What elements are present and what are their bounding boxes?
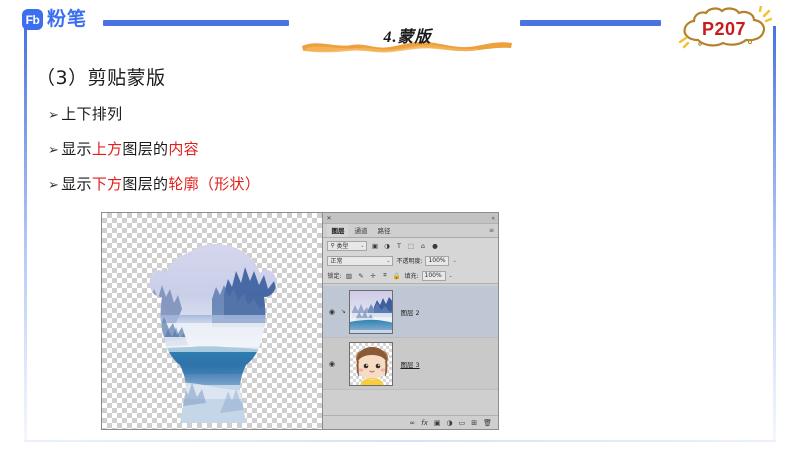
new-layer-icon[interactable]: ⊞ [471,419,477,427]
panel-menu-icon[interactable]: ≡ [489,227,494,234]
frame-line-right [773,26,776,442]
lock-image-pixels-icon[interactable]: ✎ [356,271,365,280]
frame-line-left [24,26,27,442]
bullet-list: ➢ 上下排列 ➢ 显示 上方 图层的 内容 ➢ 显示 下方 图层的 轮廓（形状） [48,103,260,194]
bullet-text-highlight: 内容 [168,138,199,159]
adjustment-icon[interactable]: ◑ [447,419,453,427]
list-item: ➢ 显示 下方 图层的 轮廓（形状） [48,173,260,194]
photoshop-canvas [102,213,323,429]
bullet-arrow-icon: ➢ [48,178,59,193]
lock-label: 锁定: [327,271,341,280]
list-item: ➢ 上下排列 [48,103,260,124]
mask-icon[interactable]: ▣ [434,419,441,427]
layers-panel-footer: ∞ fx ▣ ◑ ▭ ⊞ 🗑 [323,415,498,429]
section-heading: （3）剪贴蒙版 [36,63,166,90]
panel-collapse-icon[interactable]: « [491,215,495,222]
lock-position-icon[interactable]: ✛ [368,271,377,280]
layer-filter-row: ⚲ 类型 ⌄ ▣ ◑ T ⬚ ⌂ ● [323,238,498,253]
lock-all-icon[interactable]: 🔒 [392,271,401,280]
page-number-label: P207 [676,19,772,40]
layer-thumbnail[interactable] [349,290,393,334]
eye-icon[interactable]: ◉ [326,360,337,368]
fx-icon[interactable]: fx [421,419,428,427]
panel-close-icon[interactable]: ✕ [326,215,331,222]
frame-rule-right [520,20,661,26]
blend-mode-select[interactable]: 正常 ⌄ [327,256,393,266]
photoshop-screenshot: ✕ « 图层 通道 路径 ≡ ⚲ 类型 ⌄ ▣ ◑ T ⬚ ⌂ [101,212,499,430]
slide-root: Fb 粉笔 4.蒙版 P207 （3）剪贴蒙版 ➢ 上下排列 ➢ 显示 上方 [0,0,800,450]
filter-kind-label: 类型 [336,241,348,250]
link-icon[interactable]: ∞ [409,419,415,427]
bullet-text-highlight: 上方 [92,138,123,159]
fill-chevron-icon[interactable]: ⌄ [449,273,453,279]
tab-channels[interactable]: 通道 [350,224,371,237]
landscape-thumbnail [350,291,393,334]
group-icon[interactable]: ▭ [459,419,466,427]
frame-line-bottom [24,440,776,442]
panel-tab-bar: 图层 通道 路径 ≡ [323,224,498,238]
type-filter-icon[interactable]: T [394,241,403,250]
adjustment-filter-icon[interactable]: ◑ [382,241,391,250]
tab-paths[interactable]: 路径 [373,224,394,237]
bullet-text-highlight: 下方 [92,173,123,194]
layers-list: ◉ ↘ [323,283,498,415]
clipping-mask-result-image [128,227,298,423]
bullet-arrow-icon: ➢ [48,108,59,123]
lock-artboard-icon[interactable]: ⌗ [380,271,389,280]
filter-toggle-icon[interactable]: ● [430,241,439,250]
table-row[interactable]: ◉ [323,338,498,390]
fenbi-logo-mark: Fb [22,9,43,30]
lock-transparent-pixels-icon[interactable]: ▨ [344,271,353,280]
bullet-text-highlight: 轮廓（形状） [168,173,260,194]
shape-filter-icon[interactable]: ⬚ [406,241,415,250]
blend-mode-row: 正常 ⌄ 不透明度: 100% ⌄ [323,253,498,268]
frame-rule-left [103,20,289,26]
fenbi-logo-text: 粉笔 [47,10,87,29]
page-title: 4.蒙版 [300,23,515,47]
girl-avatar-thumbnail [350,343,393,386]
bullet-text-plain: 图层的 [122,138,168,159]
bullet-arrow-icon: ➢ [48,143,59,158]
filter-kind-select[interactable]: ⚲ 类型 ⌄ [327,241,367,251]
slide-title-group: 4.蒙版 [300,18,515,58]
smart-object-filter-icon[interactable]: ⌂ [418,241,427,250]
layer-name[interactable]: 图层 2 [400,307,419,317]
layers-panel: ✕ « 图层 通道 路径 ≡ ⚲ 类型 ⌄ ▣ ◑ T ⬚ ⌂ [323,213,498,429]
opacity-chevron-icon[interactable]: ⌄ [452,258,456,264]
fill-label: 填充: [404,271,418,280]
fenbi-logo: Fb 粉笔 [22,9,87,30]
clip-indicator-icon: ↘ [340,308,346,315]
layer-name[interactable]: 图层 3 [400,359,419,369]
panel-titlebar: ✕ « [323,213,498,224]
delete-icon[interactable]: 🗑 [483,419,492,427]
bullet-text-plain: 图层的 [122,173,168,194]
pixel-filter-icon[interactable]: ▣ [370,241,379,250]
tab-layers[interactable]: 图层 [327,224,348,237]
fill-value[interactable]: 100% [422,271,446,281]
opacity-label: 不透明度: [396,256,422,265]
bullet-text-plain: 显示 [61,138,92,159]
page-badge: P207 [676,6,772,52]
bullet-text-plain: 显示 [61,173,92,194]
list-item: ➢ 显示 上方 图层的 内容 [48,138,260,159]
lock-row: 锁定: ▨ ✎ ✛ ⌗ 🔒 填充: 100% ⌄ [323,268,498,283]
bullet-text-plain: 上下排列 [61,103,122,124]
layer-thumbnail[interactable] [349,342,393,386]
chevron-down-icon: ⌄ [386,258,390,264]
table-row[interactable]: ◉ ↘ [323,286,498,338]
chevron-down-icon: ⌄ [360,243,364,249]
blend-mode-value: 正常 [330,256,342,265]
eye-icon[interactable]: ◉ [326,308,337,316]
opacity-value[interactable]: 100% [425,256,449,266]
search-icon: ⚲ [330,243,334,249]
